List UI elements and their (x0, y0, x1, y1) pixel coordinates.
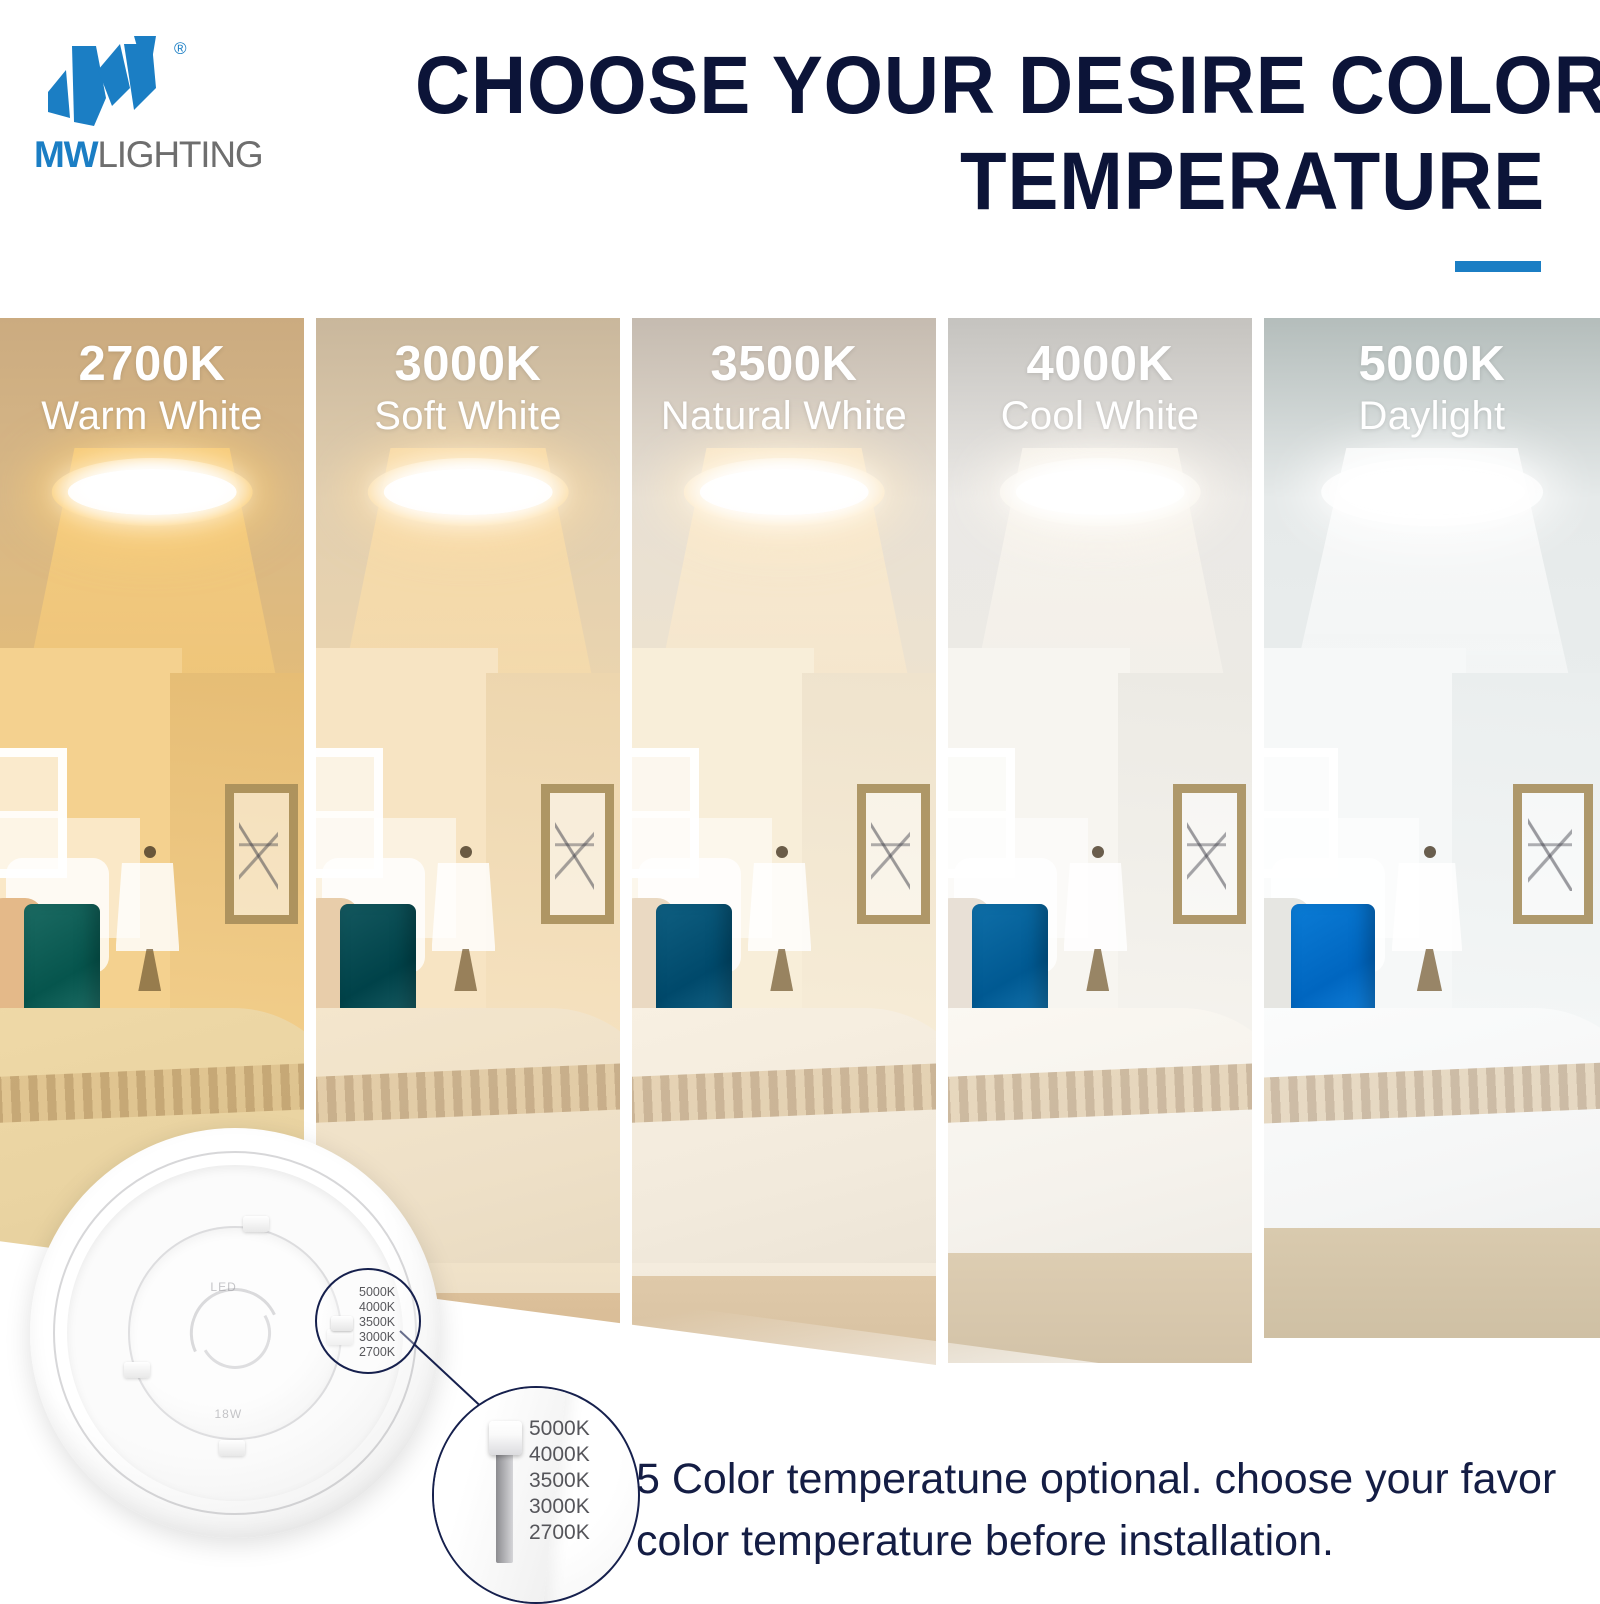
panel-kelvin-value: 3000K (316, 336, 620, 392)
cct-option-4000k[interactable]: 4000K (359, 1300, 395, 1315)
panel-room-scene: 4000K Cool White (948, 318, 1252, 1363)
cct-option-5000k[interactable]: 5000K (529, 1416, 590, 1442)
room-floor-carpet (1264, 1228, 1600, 1338)
framed-artwork (225, 784, 298, 924)
footer-caption: 5 Color temperatune optional. choose you… (636, 1448, 1586, 1572)
cct-option-5000k[interactable]: 5000K (359, 1285, 395, 1300)
title-accent-bar (1455, 261, 1541, 272)
fixture-lens (1339, 469, 1525, 515)
panel-kelvin-value: 4000K (948, 336, 1252, 392)
panel-label-group: 4000K Cool White (948, 336, 1252, 440)
panel-color-name: Cool White (948, 392, 1252, 440)
panel-room-scene: 5000K Daylight (1264, 318, 1600, 1338)
panel-color-name: Daylight (1264, 392, 1600, 440)
ceiling-light-fixture (368, 458, 569, 526)
framed-artwork (1513, 784, 1594, 924)
artwork-sketch (871, 817, 909, 890)
cct-switch-callout-magnified: 5000K4000K3500K3000K2700K (432, 1386, 640, 1604)
cct-switch-labels-small: 5000K4000K3500K3000K2700K (359, 1285, 395, 1360)
page-title: CHOOSE YOUR DESIRE COLOR TEMPERATURE (330, 38, 1545, 230)
cct-option-3500k[interactable]: 3500K (359, 1315, 395, 1330)
cct-switch-callout-small: 5000K4000K3500K3000K2700K (315, 1268, 421, 1374)
fixture-lens (1016, 469, 1185, 515)
artwork-sketch (239, 817, 277, 890)
title-line-2: TEMPERATURE (415, 134, 1545, 230)
panel-label-group: 5000K Daylight (1264, 336, 1600, 440)
panel-kelvin-value: 5000K (1264, 336, 1600, 392)
panel-color-name: Warm White (0, 392, 304, 440)
wordmark-lighting: LIGHTING (97, 134, 262, 175)
fixture-lens (700, 469, 869, 515)
framed-artwork (1173, 784, 1246, 924)
disc-mount-tab-top (243, 1216, 269, 1232)
panel-kelvin-value: 3500K (632, 336, 936, 392)
ceiling-light-fixture (52, 458, 253, 526)
color-panel-3500k: 3500K Natural White (632, 318, 936, 1386)
brand-wordmark: MWLIGHTING (34, 136, 262, 173)
framed-artwork (857, 784, 930, 924)
color-panel-4000k: 4000K Cool White (948, 318, 1252, 1363)
artwork-sketch (555, 817, 593, 890)
artwork-sketch (1528, 817, 1572, 890)
fixture-lens (384, 469, 553, 515)
cct-switch-knob-small (331, 1316, 353, 1331)
registered-trademark-icon: ® (174, 40, 187, 57)
brand-logo: ® MWLIGHTING (34, 36, 294, 176)
artwork-sketch (1187, 817, 1225, 890)
fixture-lens (68, 469, 237, 515)
cct-option-2700k[interactable]: 2700K (529, 1520, 590, 1546)
panel-kelvin-value: 2700K (0, 336, 304, 392)
panel-label-group: 3000K Soft White (316, 336, 620, 440)
lamp-finial (1424, 846, 1436, 858)
cct-option-2700k[interactable]: 2700K (359, 1345, 395, 1360)
cct-option-3000k[interactable]: 3000K (529, 1494, 590, 1520)
color-panel-5000k: 5000K Daylight (1264, 318, 1600, 1338)
cct-option-3500k[interactable]: 3500K (529, 1468, 590, 1494)
cct-option-4000k[interactable]: 4000K (529, 1442, 590, 1468)
disc-mount-tab-left (124, 1362, 150, 1378)
panel-label-group: 2700K Warm White (0, 336, 304, 440)
panel-room-scene: 3500K Natural White (632, 318, 936, 1386)
panel-label-group: 3500K Natural White (632, 336, 936, 440)
title-line-1: CHOOSE YOUR DESIRE COLOR (415, 38, 1545, 134)
mw-chevron-logo-icon (34, 36, 184, 134)
wordmark-mw: MW (34, 134, 97, 175)
caption-line-1: 5 Color temperatune optional. choose you… (636, 1448, 1586, 1510)
ceiling-light-fixture (1321, 458, 1543, 526)
magnified-switch-slot (496, 1443, 513, 1563)
disc-emboss-top: LED (210, 1280, 236, 1294)
ceiling-light-fixture (1000, 458, 1201, 526)
panel-color-name: Soft White (316, 392, 620, 440)
panel-color-name: Natural White (632, 392, 936, 440)
magnified-switch-knob[interactable] (489, 1421, 522, 1455)
ceiling-light-fixture (684, 458, 885, 526)
room-floor-carpet (948, 1253, 1252, 1363)
framed-artwork (541, 784, 614, 924)
cct-switch-labels-magnified: 5000K4000K3500K3000K2700K (529, 1416, 590, 1546)
cct-option-3000k[interactable]: 3000K (359, 1330, 395, 1345)
disc-emboss-bottom: 18W (215, 1407, 243, 1421)
caption-line-2: color temperature before installation. (636, 1510, 1586, 1572)
header: ® MWLIGHTING CHOOSE YOUR DESIRE COLOR TE… (0, 0, 1600, 318)
disc-mount-tab-bottom (219, 1440, 245, 1456)
